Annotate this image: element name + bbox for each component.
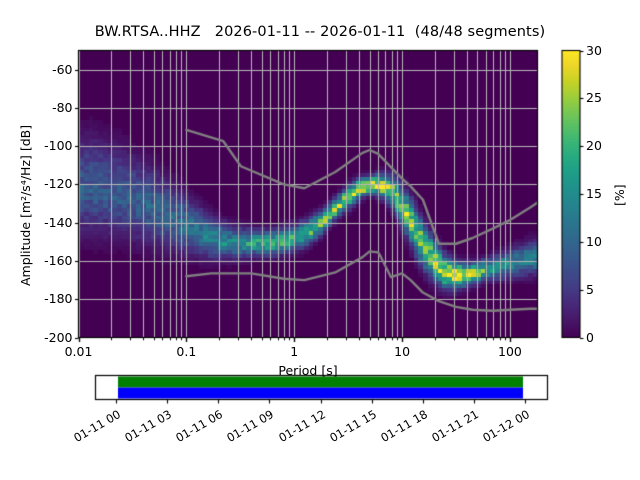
colorbar-tick-label: 10 xyxy=(586,234,620,249)
x-tick-label: 0.01 xyxy=(49,344,109,359)
x-tick-label: 100 xyxy=(480,344,540,359)
y-tick-label: -100 xyxy=(13,138,73,153)
colorbar-tick-label: 5 xyxy=(586,282,620,297)
x-axis-label: Period [s] xyxy=(79,363,538,378)
y-tick-label: -60 xyxy=(13,62,73,77)
y-tick-label: -180 xyxy=(13,291,73,306)
colorbar-tick-label: 20 xyxy=(586,138,620,153)
colorbar-tick-label: 30 xyxy=(586,43,620,58)
y-tick-label: -140 xyxy=(13,215,73,230)
y-tick-label: -160 xyxy=(13,253,73,268)
colorbar-tick-label: 15 xyxy=(586,186,620,201)
colorbar-tick-label: 0 xyxy=(586,330,620,345)
x-tick-label: 1 xyxy=(264,344,324,359)
x-tick-label: 0.1 xyxy=(156,344,216,359)
y-tick-label: -200 xyxy=(13,330,73,345)
y-tick-label: -80 xyxy=(13,100,73,115)
page-title: BW.RTSA..HHZ 2026-01-11 -- 2026-01-11 (4… xyxy=(0,24,640,40)
colorbar-tick-label: 25 xyxy=(586,90,620,105)
x-tick-label: 10 xyxy=(372,344,432,359)
y-tick-label: -120 xyxy=(13,176,73,191)
